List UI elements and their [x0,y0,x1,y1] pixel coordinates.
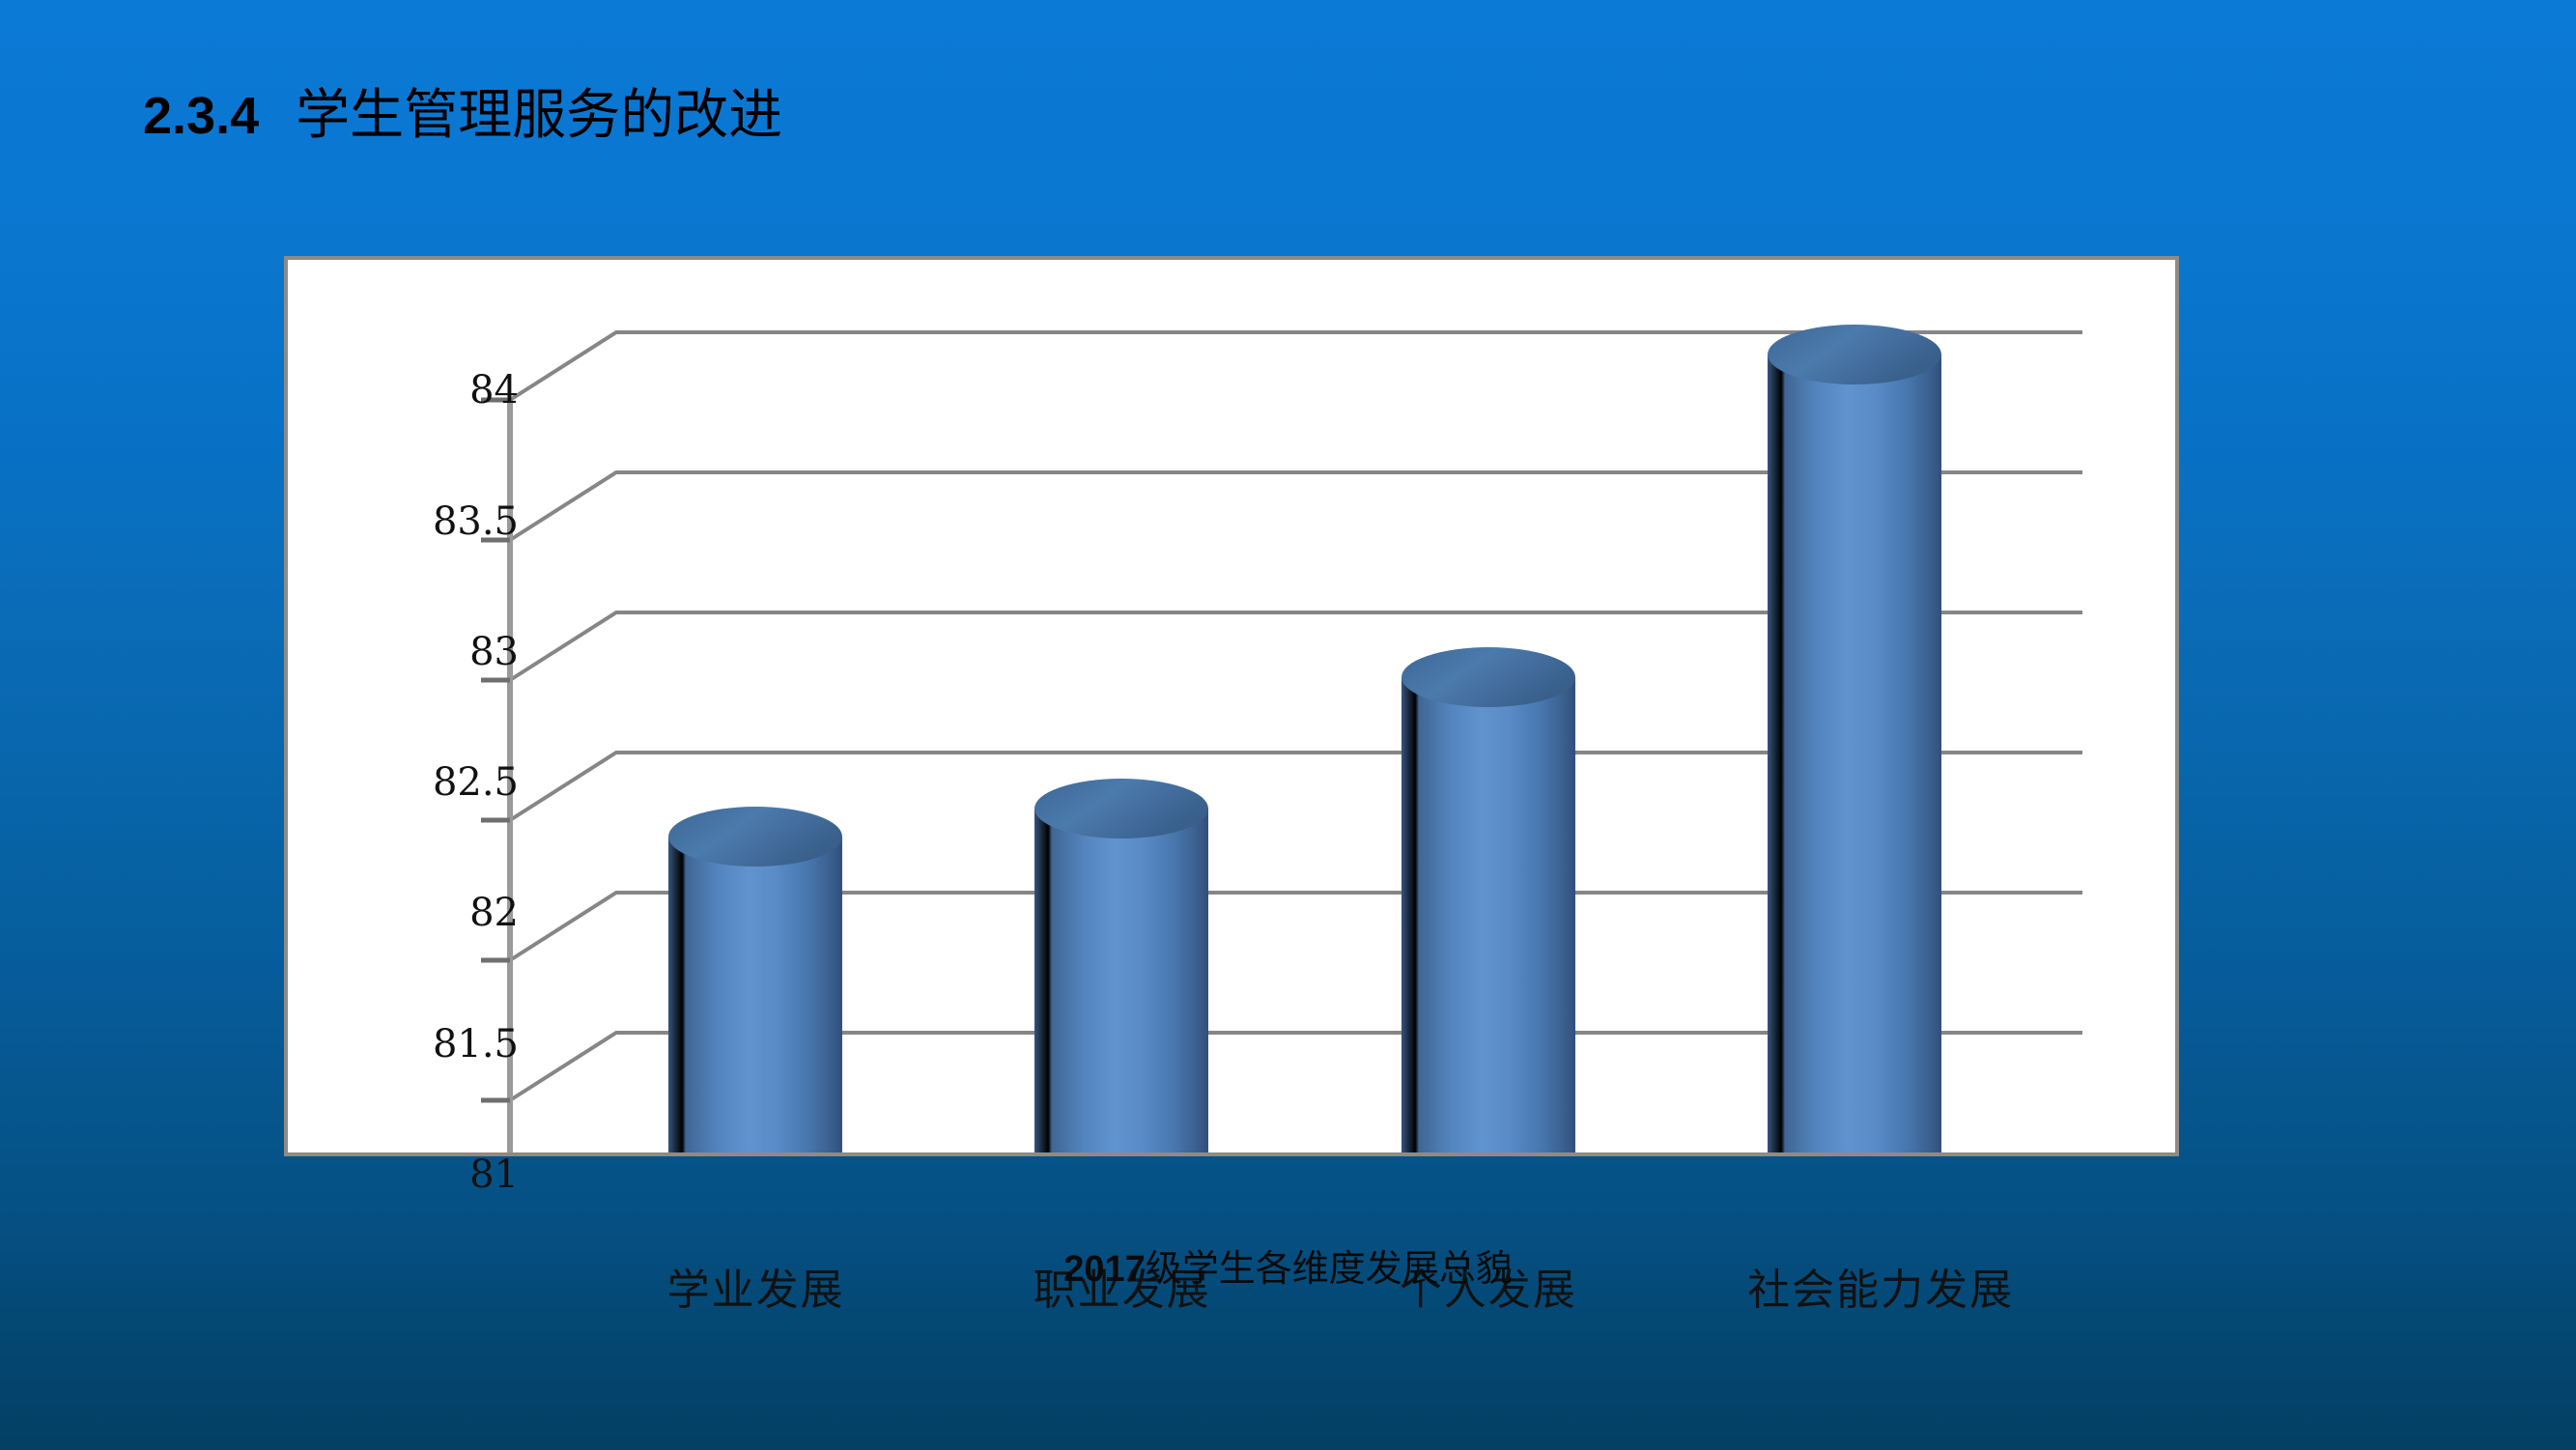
y-tick-label-82-5: 82.5 [345,760,519,805]
chart-panel: 84 83.5 83 82.5 82 81.5 81 学业发展 职业发展 个人发… [284,256,2179,1156]
bar-cylinder-1 [1034,779,1208,1152]
title-number: 2.3.4 [143,87,259,145]
y-tick-label-81-5: 81.5 [345,1022,519,1066]
y-tick-label-84: 84 [345,368,519,412]
y-tick-label-82: 82 [345,891,519,935]
bar-cylinder-3 [1768,325,1941,1152]
page-title: 2.3.4学生管理服务的改进 [143,89,782,143]
title-text: 学生管理服务的改进 [296,84,782,147]
bar-cylinder-2 [1401,647,1575,1152]
caption-text: 级学生各维度发展总貌 [1146,1247,1513,1290]
y-tick-label-83: 83 [345,630,519,674]
y-tick-label-83-5: 83.5 [345,499,519,544]
slide-canvas: 2.3.4学生管理服务的改进 [0,0,2576,1450]
chart-plot-area: 84 83.5 83 82.5 82 81.5 81 学业发展 职业发展 个人发… [288,260,2175,1152]
bar-cylinder-0 [668,807,842,1152]
bar-chart-graphic [288,260,2175,1152]
chart-caption: 2017级学生各维度发展总貌 [0,1238,2576,1292]
caption-year: 2017 [1063,1249,1146,1290]
y-tick-label-81: 81 [345,1152,519,1197]
